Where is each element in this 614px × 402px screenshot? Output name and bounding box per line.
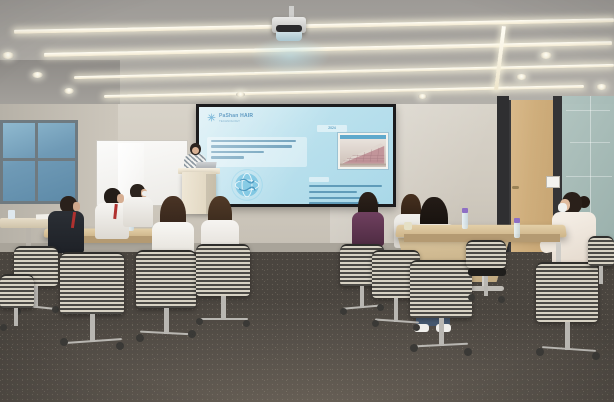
- ceiling-recess-left: [0, 60, 120, 108]
- glass-reflection-1: [566, 110, 610, 111]
- projector-light-beam: [250, 36, 330, 76]
- audience-body: [352, 212, 384, 246]
- mesh-office-chair[interactable]: [0, 274, 34, 308]
- table-cup: [404, 222, 412, 230]
- presenter-face: [192, 147, 199, 154]
- mesh-office-chair[interactable]: [60, 252, 124, 314]
- mesh-office-chair[interactable]: [466, 240, 506, 268]
- presentation-slide: PaShan HAIR TECHNOLOGY 2024: [199, 107, 393, 204]
- window-glass: [3, 123, 75, 201]
- bottle-cap: [462, 208, 468, 213]
- water-bottle: [514, 222, 520, 238]
- audience-mask: [558, 203, 567, 212]
- room-sign: [546, 176, 560, 188]
- ceiling-downlight-3: [64, 88, 74, 94]
- audience-body: [123, 197, 153, 227]
- glass-reflection-3: [566, 176, 612, 177]
- mesh-office-chair[interactable]: [196, 244, 250, 296]
- ceiling-downlight-6: [596, 84, 607, 90]
- bottle-cap: [514, 218, 520, 223]
- mesh-office-chair[interactable]: [410, 260, 472, 318]
- ceiling-downlight-2: [32, 72, 43, 78]
- door-handle[interactable]: [512, 186, 519, 189]
- mesh-office-chair[interactable]: [136, 250, 196, 308]
- mesh-office-chair[interactable]: [588, 236, 614, 266]
- slide-screen-glare: [199, 107, 393, 204]
- projector-lens: [276, 25, 302, 32]
- ceiling-downlight-5: [516, 74, 527, 80]
- ceiling-downlight-1: [2, 52, 14, 59]
- audience-face: [73, 202, 80, 211]
- ceiling-downlight-4: [540, 52, 552, 59]
- counter-cup: [8, 210, 15, 219]
- ceiling-downlight-8: [418, 94, 427, 99]
- audience-mask: [142, 191, 148, 196]
- window-mullion-horizontal: [3, 158, 75, 161]
- conference-room-photo: PaShan HAIR TECHNOLOGY 2024: [0, 0, 614, 402]
- water-bottle: [462, 212, 468, 229]
- window-mullion-vertical: [35, 123, 38, 201]
- mesh-office-chair[interactable]: [536, 262, 598, 322]
- ceiling-downlight-7: [236, 92, 245, 97]
